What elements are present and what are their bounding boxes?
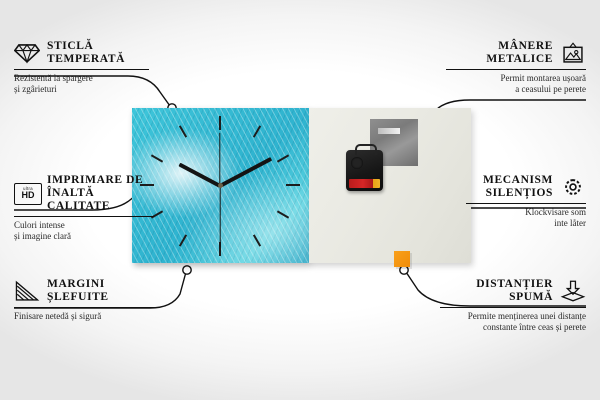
callout-title-line2: ȘLEFUITE (47, 291, 109, 303)
callout-title-line1: STICLĂ (47, 40, 93, 52)
callout-rule (14, 307, 156, 308)
callout-desc-line1: Culori intense (14, 220, 65, 230)
callout-title-line1: IMPRIMARE DE (47, 174, 143, 186)
callout-desc-metal-handles: Permit montarea ușoară a ceasului pe per… (446, 73, 586, 95)
callout-rule (466, 203, 586, 204)
callout-desc-foam-spacer: Permite menținerea unei distanțe constan… (440, 311, 586, 333)
gear-icon (560, 176, 586, 198)
callout-desc-line2: inte låter (554, 218, 586, 228)
callout-header-polished-edges: MARGINI ȘLEFUITE (14, 278, 156, 304)
callout-high-quality-print: ultra HD IMPRIMARE DE ÎNALTĂ CALITATE Cu… (14, 174, 154, 242)
callout-desc-silent-mechanism: Klockvisare som inte låter (466, 207, 586, 229)
infographic-canvas: STICLĂ TEMPERATĂ Rezistentă la spargere … (0, 0, 600, 400)
clock-mechanism-part (346, 150, 383, 191)
callout-title-line2: ÎNALTĂ CALITATE (47, 187, 110, 212)
framed-picture-icon (560, 42, 586, 64)
callout-header-silent-mechanism: MECANISM SILENȚIOS (466, 174, 586, 200)
callout-desc-line1: Klockvisare som (525, 207, 586, 217)
hatched-triangle-icon (14, 280, 40, 302)
callout-desc-line2: a ceasului pe perete (515, 84, 586, 94)
callout-rule (440, 307, 586, 308)
ultra-hd-icon: ultra HD (14, 183, 40, 205)
callout-desc-line2: și imagine clară (14, 231, 71, 241)
callout-title-line1: MÂNERE (498, 40, 553, 52)
connector-dot-polished-edges (183, 266, 191, 274)
foam-spacer-part (394, 251, 410, 267)
callout-desc-polished-edges: Finisare netedă și sigură (14, 311, 156, 322)
callout-polished-edges: MARGINI ȘLEFUITE Finisare netedă și sigu… (14, 278, 156, 322)
callout-foam-spacer: DISTANȚIER SPUMĂ Permite menținerea unei… (440, 278, 586, 333)
connector-dot-foam-spacer (400, 266, 408, 274)
ultra-hd-icon-main-text: HD (22, 191, 35, 200)
callout-title-line1: MARGINI (47, 278, 105, 290)
clock-front-panel (132, 108, 309, 263)
down-arrow-onto-pad-icon (560, 280, 586, 302)
callout-tempered-glass: STICLĂ TEMPERATĂ Rezistentă la spargere … (14, 40, 149, 95)
callout-desc-line1: Rezistentă la spargere (14, 73, 93, 83)
callout-header-high-quality-print: ultra HD IMPRIMARE DE ÎNALTĂ CALITATE (14, 174, 154, 213)
clock-back-panel (309, 108, 471, 263)
callout-desc-line1: Finisare netedă și sigură (14, 311, 101, 321)
callout-title-line1: MECANISM (483, 174, 553, 186)
callout-header-metal-handles: MÂNERE METALICE (446, 40, 586, 66)
callout-desc-line2: și zgârieturi (14, 84, 57, 94)
callout-rule (14, 216, 154, 217)
callout-desc-line2: constante între ceas și perete (483, 322, 586, 332)
diamond-icon (14, 42, 40, 64)
callout-header-foam-spacer: DISTANȚIER SPUMĂ (440, 278, 586, 304)
callout-title-line2: TEMPERATĂ (47, 53, 125, 65)
callout-desc-tempered-glass: Rezistentă la spargere și zgârieturi (14, 73, 149, 95)
callout-desc-line1: Permit montarea ușoară (501, 73, 586, 83)
callout-title-line2: METALICE (486, 53, 553, 65)
callout-title-line2: SILENȚIOS (486, 187, 553, 199)
callout-title-line1: DISTANȚIER (476, 278, 553, 290)
callout-rule (14, 69, 149, 70)
callout-title-line2: SPUMĂ (509, 291, 553, 303)
callout-desc-line1: Permite menținerea unei distanțe (468, 311, 586, 321)
callout-silent-mechanism: MECANISM SILENȚIOS Klockvisare som inte … (466, 174, 586, 229)
callout-rule (446, 69, 586, 70)
callout-header-tempered-glass: STICLĂ TEMPERATĂ (14, 40, 149, 66)
callout-metal-handles: MÂNERE METALICE Permit montarea ușoară a… (446, 40, 586, 95)
callout-desc-high-quality-print: Culori intense și imagine clară (14, 220, 154, 242)
